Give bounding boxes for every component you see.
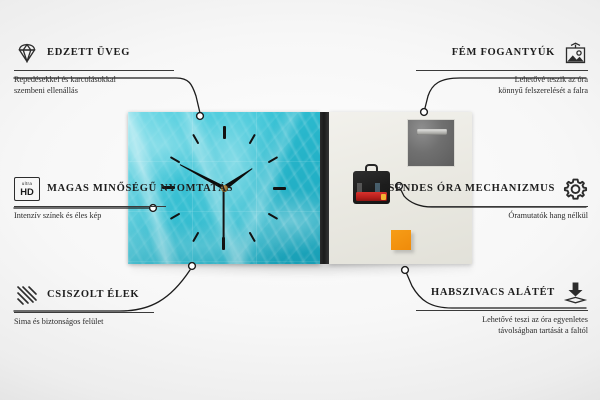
feature-description: Intenzív színek és éles kép (14, 210, 186, 221)
feature-title: CSISZOLT ÉLEK (47, 289, 139, 302)
feature-title: HABSZIVACS ALÁTÉT (431, 287, 555, 300)
feature-foam-pad: HABSZIVACS ALÁTÉT Lehetővé teszi az óra … (416, 280, 588, 337)
feature-description: Sima és biztonságos felület (14, 316, 186, 327)
polished-edges-icon (14, 282, 40, 308)
glass-panel-edge (320, 112, 329, 264)
feature-description: Óramutatók hang nélkül (416, 210, 588, 221)
feature-high-quality-printing: ultra HD MAGAS MINŐSÉGŰ NYOMTATÁS Intenz… (14, 176, 186, 221)
clock-tick-1 (223, 134, 256, 189)
hd-badge-lower: HD (20, 187, 34, 196)
feature-title: EDZETT ÜVEG (47, 47, 130, 60)
feature-description: Lehetővé teszik az óra könnyű felszerelé… (416, 74, 588, 97)
feature-rule (14, 312, 154, 313)
product-feature-infographic: EDZETT ÜVEG Repedésekkel és karcolásokka… (0, 0, 600, 400)
gear-icon (562, 176, 588, 202)
product-shadow (132, 262, 472, 278)
wall-frame-hanger-icon (562, 40, 588, 66)
clock-second-hand (223, 188, 225, 244)
feature-rule (416, 70, 588, 71)
feature-description: Lehetővé teszi az óra egyenletes távolsá… (416, 314, 588, 337)
foam-pad-arrow-icon (562, 280, 588, 306)
feature-silent-mechanism: CSENDES ÓRA MECHANIZMUS Óramutatók hang … (416, 176, 588, 221)
ultra-hd-badge-icon: ultra HD (14, 176, 40, 202)
feature-title: MAGAS MINŐSÉGŰ NYOMTATÁS (47, 183, 233, 196)
feature-rule (14, 206, 166, 207)
feature-metal-handles: FÉM FOGANTYÚK Lehetővé teszik az óra kön… (416, 40, 588, 97)
feature-rule (14, 70, 174, 71)
feature-description: Repedésekkel és karcolásokkal szembeni e… (14, 74, 186, 97)
feature-polished-edges: CSISZOLT ÉLEK Sima és biztonságos felüle… (14, 282, 186, 327)
metal-hanger-plate (407, 119, 455, 167)
feature-title: FÉM FOGANTYÚK (452, 47, 555, 60)
clock-tick-12 (223, 126, 225, 188)
clock-tick-3 (224, 187, 286, 189)
feature-rule (416, 310, 588, 311)
diamond-icon (14, 40, 40, 66)
feature-title: CSENDES ÓRA MECHANIZMUS (380, 183, 555, 196)
feature-rule (428, 206, 588, 207)
feature-tempered-glass: EDZETT ÜVEG Repedésekkel és karcolásokka… (14, 40, 186, 97)
foam-spacer-pad (391, 230, 411, 250)
